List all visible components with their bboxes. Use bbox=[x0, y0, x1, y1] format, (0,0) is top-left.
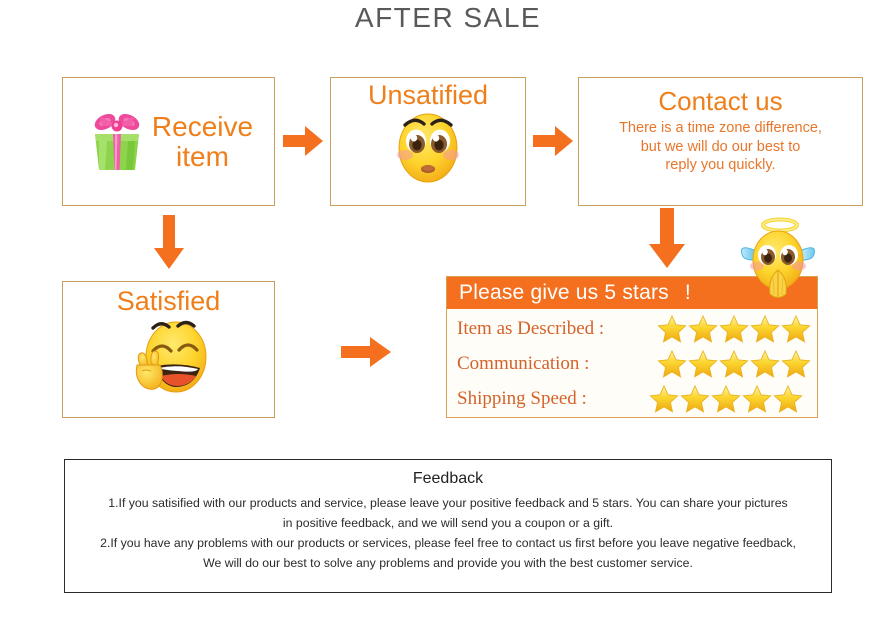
rating-row: Shipping Speed : bbox=[447, 381, 817, 416]
feedback-line: in positive feedback, and we will send y… bbox=[65, 514, 831, 534]
contact-us-body: There is a time zone difference, but we … bbox=[619, 119, 822, 175]
star-icon bbox=[742, 384, 772, 413]
rating-label: Communication : bbox=[457, 353, 589, 375]
rating-rows: Item as Described : Communication : bbox=[447, 309, 817, 416]
star-icon bbox=[750, 349, 780, 378]
arrow-down-icon bbox=[646, 207, 688, 269]
flow-box-unsatisfied: Unsatified bbox=[330, 77, 526, 206]
contact-us-title: Contact us bbox=[658, 88, 782, 115]
rating-label: Item as Described : bbox=[457, 318, 604, 340]
page-title: AFTER SALE bbox=[0, 2, 896, 34]
arrow-right-icon bbox=[340, 334, 392, 370]
feedback-line: 1.If you satisified with our products an… bbox=[65, 494, 831, 514]
rating-panel-header-exclamation: ! bbox=[685, 281, 691, 305]
feedback-box: Feedback 1.If you satisified with our pr… bbox=[64, 459, 832, 593]
star-icon bbox=[719, 349, 749, 378]
star-icon bbox=[649, 384, 679, 413]
feedback-title: Feedback bbox=[65, 470, 831, 488]
contact-us-body-line2: but we will do our best to bbox=[619, 138, 822, 157]
receive-item-label-line1: Receive bbox=[152, 112, 253, 141]
rating-row: Communication : bbox=[447, 346, 817, 381]
feedback-lines: 1.If you satisified with our products an… bbox=[65, 494, 831, 574]
rating-panel-header-text: Please give us 5 stars bbox=[459, 281, 669, 305]
contact-us-body-line3: reply you quickly. bbox=[619, 156, 822, 175]
star-icon bbox=[688, 349, 718, 378]
star-icon bbox=[719, 314, 749, 343]
star-icon bbox=[657, 349, 687, 378]
feedback-line: 2.If you have any problems with our prod… bbox=[65, 534, 831, 554]
star-icon bbox=[750, 314, 780, 343]
rating-row: Item as Described : bbox=[447, 311, 817, 346]
star-rating-item-as-described bbox=[657, 314, 811, 343]
feedback-line: We will do our best to solve any problem… bbox=[65, 554, 831, 574]
receive-item-label: Receive item bbox=[152, 112, 253, 170]
sad-face-icon bbox=[391, 105, 465, 185]
star-icon bbox=[711, 384, 741, 413]
star-rating-shipping-speed bbox=[649, 384, 803, 413]
arrow-right-icon bbox=[282, 123, 324, 159]
star-rating-communication bbox=[657, 349, 811, 378]
after-sale-infographic: AFTER SALE bbox=[0, 0, 896, 628]
star-icon bbox=[781, 314, 811, 343]
star-icon bbox=[657, 314, 687, 343]
star-icon bbox=[680, 384, 710, 413]
star-icon bbox=[688, 314, 718, 343]
star-icon bbox=[781, 349, 811, 378]
contact-us-body-line1: There is a time zone difference, bbox=[619, 119, 822, 138]
gift-icon bbox=[88, 110, 146, 174]
flow-box-contact-us: Contact us There is a time zone differen… bbox=[578, 77, 863, 206]
angel-face-icon bbox=[740, 216, 816, 302]
star-icon bbox=[773, 384, 803, 413]
receive-item-label-line2: item bbox=[152, 142, 253, 171]
happy-face-victory-icon bbox=[120, 313, 218, 397]
flow-box-satisfied: Satisfied bbox=[62, 281, 275, 418]
arrow-right-icon bbox=[532, 123, 574, 159]
rating-label: Shipping Speed : bbox=[457, 388, 587, 410]
satisfied-label: Satisfied bbox=[117, 288, 221, 315]
arrow-down-icon bbox=[151, 214, 187, 270]
flow-box-receive-item: Receive item bbox=[62, 77, 275, 206]
